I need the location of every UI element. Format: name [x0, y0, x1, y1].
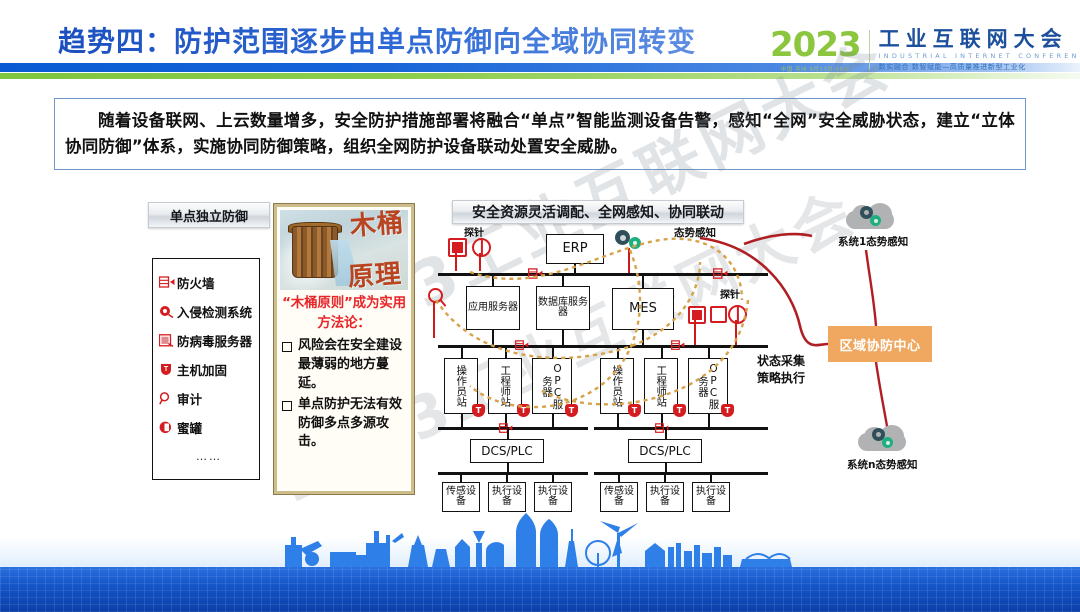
list-item: 防火墙: [159, 268, 259, 297]
db-server-downlink: [562, 330, 564, 346]
antivirus-icon: [159, 333, 175, 348]
node-label: 工程师站: [500, 365, 511, 407]
bucket-title-top: 木桶: [349, 210, 405, 241]
bullet-label: 单点防护无法有效防御多点多源攻击。: [298, 396, 408, 453]
logo-year-block: 2023 中国·苏州 9月13日-16日: [770, 28, 869, 73]
list-item-label: 入侵检测系统: [177, 302, 252, 321]
opc-b-uplink: [708, 345, 710, 358]
audit-magnifier-icon: [159, 391, 175, 406]
magnifier-stem: [433, 302, 435, 338]
operator-b-downlink: [617, 414, 619, 428]
bottom-blue-band: [0, 567, 1080, 612]
engineer-b-uplink: [661, 345, 663, 358]
list-item-label: 防火墙: [177, 273, 215, 292]
node-mes: MES: [612, 288, 674, 330]
logo-year: 2023: [770, 28, 861, 62]
logo-chinese-name: 工业互联网大会: [879, 28, 1080, 50]
host-hardening-icon-a2: T: [517, 404, 530, 417]
firewall-icon-midbus-right: [712, 266, 728, 281]
host-hardening-icon-b3: T: [721, 404, 734, 417]
cloud-icon-system-n: [858, 425, 906, 451]
node-label: OPC服务器: [698, 359, 719, 413]
probe-icon-ring-right: [728, 305, 747, 324]
firewall-icon-lowbus-a: [498, 421, 514, 436]
intrusion-detection-icon: [159, 304, 175, 319]
node-label: 工程师站: [656, 365, 667, 407]
bus-level-3-b: [594, 427, 768, 430]
bullet-square-icon: [282, 342, 292, 352]
probe-label-left: 探针: [464, 224, 484, 239]
honeypot-icon: [159, 420, 175, 435]
logo-english-name: INDUSTRIAL INTERNET CONFERENCE: [879, 52, 1080, 60]
cloud-label-system-n: 系统n态势感知: [847, 457, 917, 472]
opc-a-uplink: [552, 345, 554, 358]
bullet-square-icon: [282, 401, 292, 411]
list-item: 审计: [159, 384, 259, 413]
bus-level-2: [438, 345, 768, 348]
firewall-icon-mid-b: [670, 338, 686, 353]
host-hardening-icon-a1: T: [472, 404, 485, 417]
probe-icon-box-right: [710, 306, 727, 323]
node-app-server: 应用服务器: [466, 286, 520, 330]
network-topology-diagram: 探针 ERP 态势感知 应用服务器 数据库服务器 MES: [432, 226, 772, 498]
firewall-icon-mid-a: [514, 338, 530, 353]
list-item-label: 审计: [177, 389, 202, 408]
actuator-a2-link: [552, 472, 554, 482]
node-dcs-plc-a: DCS/PLC: [470, 439, 544, 463]
page-title: 趋势四：防护范围逐步由单点防御向全域协同转变: [58, 20, 696, 60]
mes-uplink: [642, 273, 644, 288]
probe-right-stem-a: [694, 320, 696, 346]
actuator-b1-link: [664, 472, 666, 482]
list-item: 防病毒服务器: [159, 326, 259, 355]
engineer-a-uplink: [505, 345, 507, 358]
node-erp: ERP: [546, 234, 604, 264]
skyline-illustration: [0, 497, 1080, 567]
bucket-body: [292, 226, 338, 278]
probe-stem-right: [479, 253, 481, 271]
bullet-item: 风险会在安全建设最薄弱的地方蔓延。: [280, 337, 408, 394]
opc-a-downlink: [552, 414, 554, 428]
bus-level-4-b: [594, 472, 768, 475]
gear-link-line: [628, 248, 630, 273]
node-dcs-plc-b: DCS/PLC: [628, 439, 702, 463]
db-server-uplink: [562, 273, 564, 286]
logo-slogan: 数实融合 数智赋能—高质量推进新型工业化: [879, 62, 1080, 72]
firewall-icon-midbus-left: [527, 266, 543, 281]
operator-b-uplink: [617, 345, 619, 358]
bullet-label: 风险会在安全建设最薄弱的地方蔓延。: [298, 337, 408, 394]
bucket-heading: “木桶原则”成为实用方法论：: [280, 294, 408, 333]
bucket-title-bottom: 原理: [347, 261, 403, 290]
firewall-icon: [159, 275, 175, 290]
probe-right-stem-b: [735, 320, 737, 346]
list-ellipsis: ……: [159, 450, 259, 463]
summary-textbox: 随着设备联网、上云数量增多，安全防护措施部署将融合“单点”智能监测设备告警，感知…: [54, 98, 1026, 170]
host-hardening-icon-b1: T: [628, 404, 641, 417]
app-server-uplink: [492, 273, 494, 286]
bullet-item: 单点防护无法有效防御多点多源攻击。: [280, 396, 408, 453]
node-label: OPC服务器: [542, 359, 563, 413]
opc-b-downlink: [708, 414, 710, 428]
list-item-label: 蜜罐: [177, 418, 202, 437]
probe-stem-left: [455, 253, 457, 271]
gear-cluster-icon: [615, 230, 645, 248]
logo-separator: [869, 30, 870, 70]
cloud-icon-system-1: [846, 203, 894, 229]
audit-magnifier-diagram-icon: [428, 288, 443, 303]
host-hardening-icon-a3: T: [565, 404, 578, 417]
bucket-illustration: 木桶 原理: [280, 210, 408, 290]
probe-icon-ring: [472, 238, 491, 257]
operator-a-downlink: [461, 414, 463, 428]
sensor-b-link: [618, 472, 620, 482]
list-item: 蜜罐: [159, 413, 259, 442]
list-item: T 主机加固: [159, 355, 259, 384]
situation-awareness-label: 态势感知: [674, 225, 716, 240]
single-point-defense-list: 防火墙 入侵检测系统 防病毒服务器 T 主机加固 审计: [152, 258, 260, 480]
gear-green-icon: [870, 215, 881, 226]
list-item: 入侵检测系统: [159, 297, 259, 326]
node-label: 操作员站: [612, 365, 623, 407]
conference-logo: 2023 中国·苏州 9月13日-16日 工业互联网大会 INDUSTRIAL …: [770, 24, 1080, 76]
bucket-principle-panel: 木桶 原理 “木桶原则”成为实用方法论： 风险会在安全建设最薄弱的地方蔓延。 单…: [274, 204, 414, 494]
dcs-b-uplink: [665, 427, 667, 439]
summary-paragraph: 随着设备联网、上云数量增多，安全防护措施部署将融合“单点”智能监测设备告警，感知…: [65, 108, 1015, 159]
regional-defense-center-box: 区域协防中心: [828, 326, 932, 362]
app-server-downlink: [492, 330, 494, 346]
host-hardening-icon: T: [159, 362, 175, 377]
operator-a-uplink: [461, 345, 463, 358]
node-db-server: 数据库服务器: [536, 286, 590, 330]
list-item-label: 防病毒服务器: [177, 331, 252, 350]
probe-icon-square: [448, 238, 467, 257]
left-panel-banner: 单点独立防御: [148, 202, 270, 228]
gear-green-icon: [882, 437, 893, 448]
diagram-banner: 安全资源灵活调配、全网感知、协同联动: [452, 200, 744, 224]
policy-exec-label: 策略执行: [757, 369, 805, 386]
logo-year-subtitle: 中国·苏州 9月13日-16日: [781, 65, 850, 73]
node-label: 操作员站: [456, 365, 467, 407]
probe-label-right: 探针: [720, 286, 740, 301]
svg-text:T: T: [164, 366, 169, 373]
bucket-bullet-list: 风险会在安全建设最薄弱的地方蔓延。 单点防护无法有效防御多点多源攻击。: [280, 337, 408, 452]
actuator-b2-link: [710, 472, 712, 482]
host-hardening-icon-b2: T: [673, 404, 686, 417]
mes-downlink: [642, 330, 644, 346]
dcs-a-uplink: [507, 427, 509, 439]
logo-text-block: 工业互联网大会 INDUSTRIAL INTERNET CONFERENCE 数…: [879, 28, 1080, 72]
firewall-icon-lowbus-b: [654, 421, 670, 436]
cloud-label-system-1: 系统1态势感知: [838, 234, 908, 249]
state-collect-label: 状态采集: [757, 352, 805, 369]
actuator-a1-link: [506, 472, 508, 482]
probe-icon-square-right: [688, 306, 706, 324]
sensor-a-link: [460, 472, 462, 482]
list-item-label: 主机加固: [177, 360, 227, 379]
slide-canvas: 趋势四：防护范围逐步由单点防御向全域协同转变 2023 中国·苏州 9月13日-…: [0, 0, 1080, 612]
